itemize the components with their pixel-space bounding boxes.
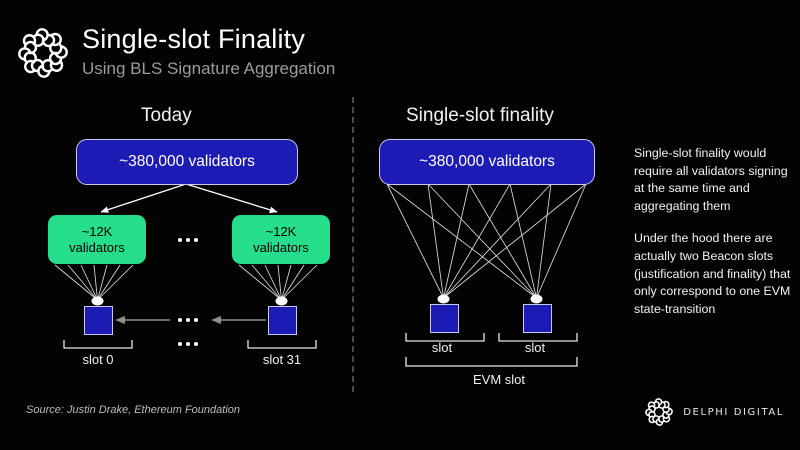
- left-fan-lines-slot31: [239, 265, 317, 300]
- note-paragraph-2: Under the hood there are actually two Be…: [634, 230, 792, 318]
- left-top-arrows: [101, 184, 277, 212]
- right-slot-label-1: slot: [404, 340, 480, 355]
- vertical-dashed-divider: [352, 97, 354, 392]
- bracket-slot31: [248, 340, 316, 348]
- left-total-validators-box: ~380,000 validators: [76, 139, 298, 185]
- delphi-ring-logo-icon: [643, 396, 675, 428]
- right-panel-heading: Single-slot finality: [406, 105, 554, 127]
- slide-canvas: Single-slot Finality Using BLS Signature…: [0, 0, 800, 450]
- bracket-slot0: [64, 340, 132, 348]
- committee-box-slot31: ~12K validators: [232, 215, 330, 264]
- brand-name: DELPHI DIGITAL: [683, 407, 784, 418]
- block-square-slot0: [84, 306, 113, 335]
- committee-box-slot31-line1: ~12K: [266, 224, 297, 240]
- ellipsis-slots: [178, 342, 198, 346]
- ellipsis-blocks: [178, 318, 198, 322]
- brand-lockup: DELPHI DIGITAL: [643, 396, 784, 428]
- block-square-slot31: [268, 306, 297, 335]
- committee-box-slot0-line2: validators: [69, 240, 125, 256]
- left-total-validators-label: ~380,000 validators: [119, 153, 255, 171]
- right-total-validators-box: ~380,000 validators: [379, 139, 595, 185]
- right-crossing-lines: [387, 184, 586, 298]
- delphi-ring-logo-icon: [14, 24, 72, 82]
- aggregation-node-right-1: [438, 295, 450, 304]
- source-attribution: Source: Justin Drake, Ethereum Foundatio…: [26, 404, 240, 416]
- evm-slot-label: EVM slot: [434, 372, 564, 387]
- slot-label-0: slot 0: [62, 352, 134, 367]
- right-total-validators-label: ~380,000 validators: [419, 153, 555, 171]
- committee-box-slot0: ~12K validators: [48, 215, 146, 264]
- title-block: Single-slot Finality Using BLS Signature…: [82, 24, 335, 80]
- note-paragraph-1: Single-slot finality would require all v…: [634, 145, 792, 215]
- left-fan-lines-slot0: [55, 265, 133, 300]
- page-subtitle: Using BLS Signature Aggregation: [82, 58, 335, 80]
- block-square-beacon-2: [523, 304, 552, 333]
- aggregation-node-right-2: [531, 295, 543, 304]
- page-title: Single-slot Finality: [82, 24, 335, 56]
- committee-box-slot31-line2: validators: [253, 240, 309, 256]
- left-panel-heading: Today: [141, 105, 192, 127]
- ellipsis-committees: [178, 238, 198, 242]
- bracket-evm-slot: [406, 357, 577, 366]
- notes-column: Single-slot finality would require all v…: [634, 145, 792, 318]
- block-square-beacon-1: [430, 304, 459, 333]
- committee-box-slot0-line1: ~12K: [82, 224, 113, 240]
- aggregation-node-slot0: [92, 297, 104, 306]
- slot-label-31: slot 31: [246, 352, 318, 367]
- right-slot-label-2: slot: [497, 340, 573, 355]
- aggregation-node-slot31: [276, 297, 288, 306]
